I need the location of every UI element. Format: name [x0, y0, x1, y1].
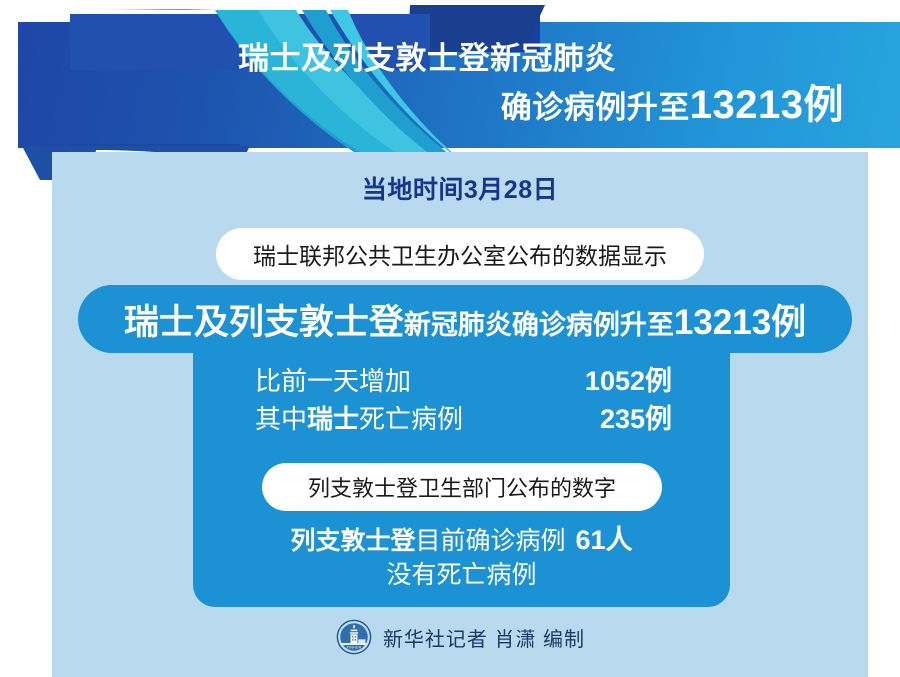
infographic-poster: 瑞士及列支敦士登新冠肺炎 确诊病例升至13213例 当地时间3月28日 瑞士联邦…	[0, 0, 900, 677]
xinhua-logo-icon: XINHUA	[335, 618, 373, 656]
local-date-label: 当地时间3月28日	[52, 170, 868, 206]
header-title-line2-suffix: 例	[804, 83, 845, 127]
liechtenstein-no-deaths: 没有死亡病例	[193, 559, 730, 593]
source-capsule-swiss: 瑞士联邦公共卫生办公室公布的数据显示	[216, 228, 704, 280]
header-zone: 瑞士及列支敦士登新冠肺炎 确诊病例升至13213例	[0, 0, 900, 160]
main-headline-number: 13213	[674, 303, 771, 342]
header-title-block: 瑞士及列支敦士登新冠肺炎 确诊病例升至13213例	[200, 22, 882, 148]
stat-label-new-cases: 比前一天增加	[255, 363, 411, 400]
credit-text: 新华社记者 肖潇 编制	[383, 623, 585, 652]
header-title-line1: 瑞士及列支敦士登新冠肺炎	[200, 42, 616, 77]
liechtenstein-cases-line: 列支敦士登目前确诊病例61人	[193, 522, 730, 559]
liechtenstein-cases-label: 目前确诊病例	[415, 527, 565, 555]
source-capsule-liechtenstein: 列支敦士登卫生部门公布的数字	[262, 463, 662, 511]
stat-row-deaths: 其中瑞士死亡病例 235例	[193, 400, 730, 438]
main-headline-pill: 瑞士及列支敦士登新冠肺炎确诊病例升至13213例	[78, 285, 852, 353]
liechtenstein-block: 列支敦士登目前确诊病例61人 没有死亡病例	[193, 522, 730, 593]
main-headline-text: 瑞士及列支敦士登新冠肺炎确诊病例升至13213例	[124, 294, 806, 345]
header-title-line2: 确诊病例升至13213例	[501, 83, 844, 128]
main-headline-mid: 新冠肺炎确诊病例升至	[404, 310, 674, 340]
header-title-line2-prefix: 确诊病例升至	[501, 90, 690, 125]
svg-text:XINHUA: XINHUA	[346, 645, 361, 649]
header-title-number: 13213	[690, 83, 804, 127]
stat-label-deaths-bold: 瑞士	[307, 404, 359, 434]
stat-label-deaths: 其中瑞士死亡病例	[255, 401, 463, 438]
stat-value-deaths: 235例	[600, 400, 672, 438]
stat-row-new-cases: 比前一天增加 1052例	[193, 362, 730, 400]
stats-list: 比前一天增加 1052例 其中瑞士死亡病例 235例	[193, 362, 730, 439]
liechtenstein-cases-value: 61人	[575, 525, 632, 555]
stat-label-deaths-part1: 其中	[255, 404, 307, 434]
stat-value-new-cases: 1052例	[585, 362, 672, 400]
liechtenstein-name-bold: 列支敦士登	[290, 527, 415, 555]
main-headline-prefix: 瑞士及列支敦士登	[124, 303, 404, 342]
stat-label-deaths-part2: 死亡病例	[359, 404, 463, 434]
main-headline-suffix: 例	[771, 303, 806, 342]
footer-credit: XINHUA 新华社记者 肖潇 编制	[52, 618, 868, 656]
